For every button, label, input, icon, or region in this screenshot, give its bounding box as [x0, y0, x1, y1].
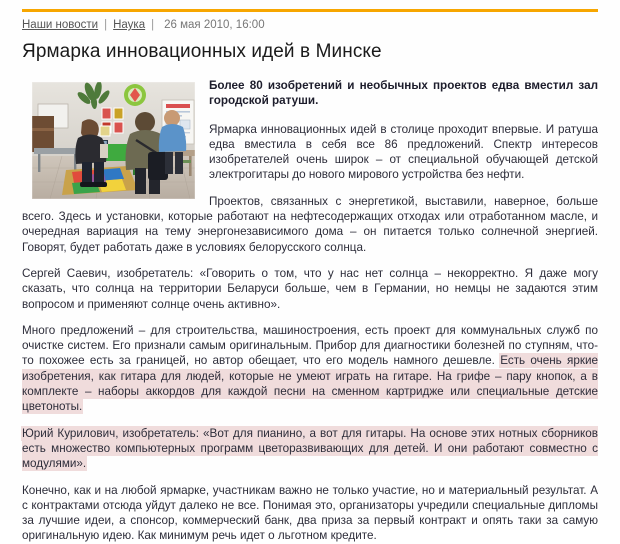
- photo-illustration: [32, 82, 195, 199]
- article-date: 26 мая 2010, 16:00: [160, 19, 264, 31]
- paragraph-quote-saevich: Сергей Саевич, изобретатель: «Говорить о…: [22, 266, 598, 312]
- breadcrumb: Наши новости|Наука|26 мая 2010, 16:00: [22, 17, 598, 33]
- accent-rule: [22, 9, 598, 12]
- breadcrumb-separator-1: |: [98, 19, 113, 31]
- highlighted-text-quote: Юрий Курилович, изобретатель: «Вот для п…: [22, 427, 598, 471]
- breadcrumb-link-science[interactable]: Наука: [113, 19, 145, 31]
- paragraph-quote-kurilovich: Юрий Курилович, изобретатель: «Вот для п…: [22, 426, 598, 472]
- article-body: Более 80 изобретений и необычных проекто…: [22, 78, 598, 544]
- paragraph-2: Проектов, связанных с энергетикой, выста…: [22, 194, 598, 255]
- paragraph-mixed-highlight: Много предложений – для строительства, м…: [22, 323, 598, 415]
- exhibition-hall-photo: [32, 82, 195, 199]
- article-page: Наши новости|Наука|26 мая 2010, 16:00 Яр…: [0, 0, 620, 520]
- page-title: Ярмарка инновационных идей в Минске: [22, 40, 598, 64]
- breadcrumb-link-our-news[interactable]: Наши новости: [22, 19, 98, 31]
- paragraph-closing: Конечно, как и на любой ярмарке, участни…: [22, 483, 598, 544]
- breadcrumb-separator-2: |: [145, 19, 160, 31]
